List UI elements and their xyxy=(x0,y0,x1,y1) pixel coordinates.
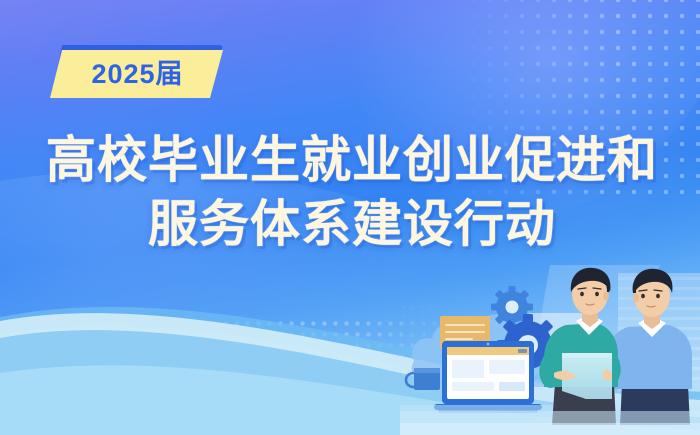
banner-container: 2025届 高校毕业生就业创业促进和 服务体系建设行动 xyxy=(0,0,700,435)
illustration-two-people-with-laptop xyxy=(400,265,700,435)
year-badge-face: 2025届 xyxy=(50,50,223,98)
year-badge-label: 2025届 xyxy=(91,61,183,88)
headline-block: 高校毕业生就业创业促进和 服务体系建设行动 xyxy=(0,128,700,256)
laptop-icon xyxy=(434,341,542,413)
headline-line-1: 高校毕业生就业创业促进和 xyxy=(0,128,700,192)
coffee-mug-icon xyxy=(406,368,440,390)
dot-grid-icon xyxy=(402,305,432,335)
headline-line-2: 服务体系建设行动 xyxy=(0,192,700,256)
year-badge: 2025届 xyxy=(50,48,225,98)
